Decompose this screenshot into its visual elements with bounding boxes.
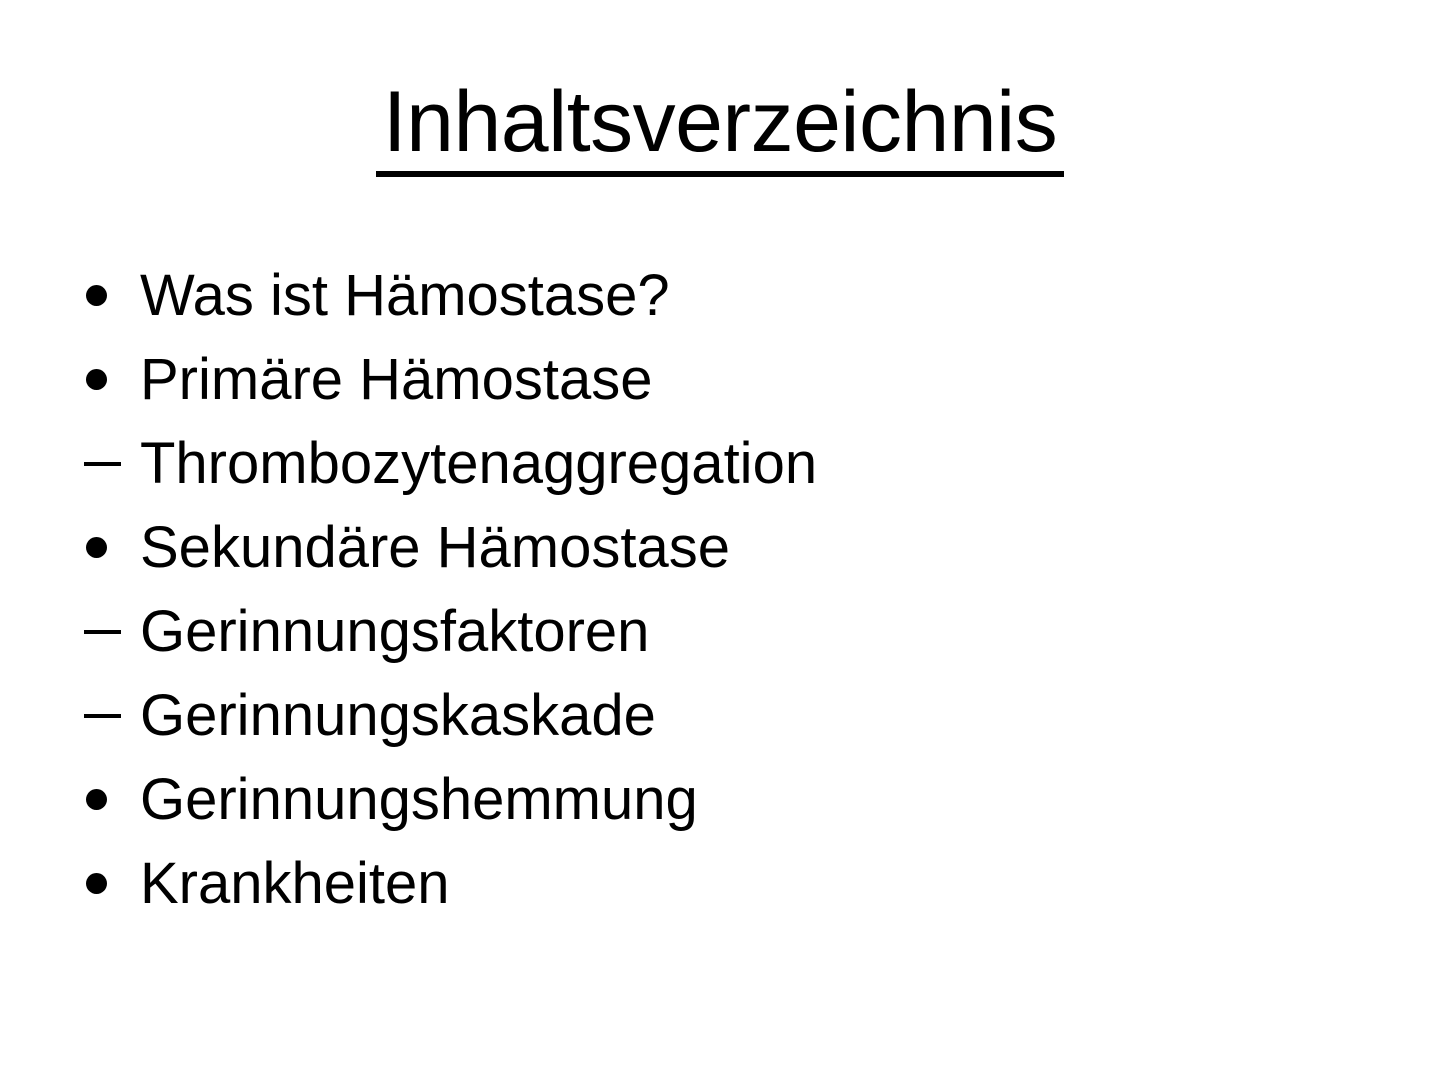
bullet-dot-icon (86, 758, 130, 842)
list-item: Gerinnungskaskade (0, 674, 1440, 758)
list-item-label: Gerinnungshemmung (140, 758, 698, 842)
list-item: Krankheiten (0, 842, 1440, 926)
presentation-slide: Inhaltsverzeichnis Was ist Hämostase? Pr… (0, 0, 1440, 1080)
table-of-contents-list: Was ist Hämostase? Primäre Hämostase Thr… (0, 254, 1440, 926)
list-item-label: Thrombozytenaggregation (140, 422, 817, 506)
page-title-text: Inhaltsverzeichnis (381, 74, 1060, 170)
list-item: Sekundäre Hämostase (0, 506, 1440, 590)
list-item: Gerinnungshemmung (0, 758, 1440, 842)
list-item-label: Was ist Hämostase? (140, 254, 670, 338)
list-item: Gerinnungsfaktoren (0, 590, 1440, 674)
bullet-dot-icon (86, 254, 130, 338)
list-item-label: Gerinnungsfaktoren (140, 590, 649, 674)
bullet-dot-icon (86, 338, 130, 422)
bullet-dot-icon (86, 842, 130, 926)
list-item-label: Krankheiten (140, 842, 450, 926)
list-item-label: Primäre Hämostase (140, 338, 652, 422)
list-item: Primäre Hämostase (0, 338, 1440, 422)
bullet-dash-icon (84, 674, 130, 758)
list-item-label: Gerinnungskaskade (140, 674, 656, 758)
bullet-dash-icon (84, 590, 130, 674)
bullet-dot-icon (86, 506, 130, 590)
bullet-dash-icon (84, 422, 130, 506)
page-title: Inhaltsverzeichnis (0, 74, 1440, 170)
list-item: Thrombozytenaggregation (0, 422, 1440, 506)
list-item-label: Sekundäre Hämostase (140, 506, 730, 590)
list-item: Was ist Hämostase? (0, 254, 1440, 338)
